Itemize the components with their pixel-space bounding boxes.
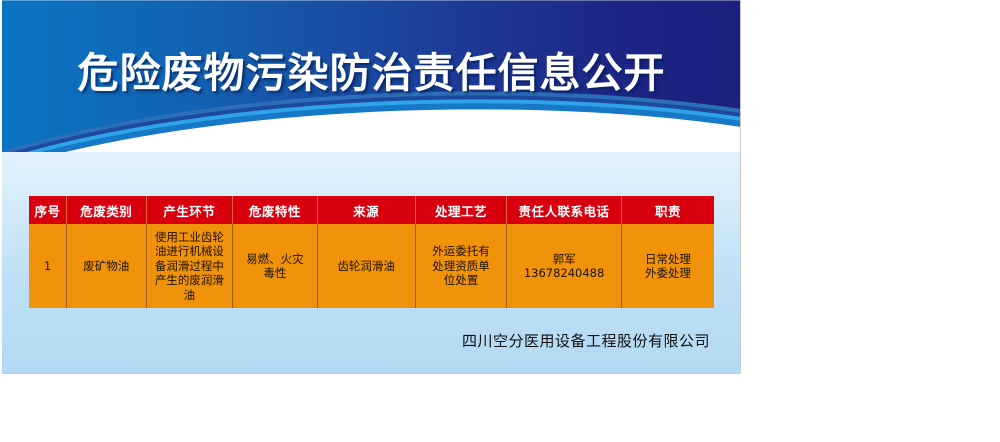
table-row: 1 废矿物油 使用工业齿轮油进行机械设备润滑过程中产生的废润滑油 易燃、火灾毒性… bbox=[29, 224, 714, 308]
column-header-treatment-process: 处理工艺 bbox=[415, 196, 506, 224]
cell-generation-stage-text: 使用工业齿轮油进行机械设备润滑过程中产生的废润滑油 bbox=[154, 230, 224, 303]
page-title: 危险废物污染防治责任信息公开 bbox=[2, 48, 741, 98]
table-header-row: 序号 危废类别 产生环节 危废特性 来源 处理工艺 责任人联系电话 职责 bbox=[29, 196, 714, 224]
column-header-source: 来源 bbox=[317, 196, 415, 224]
screenshot-canvas: 危险废物污染防治责任信息公开 序号 危废类别 产生环节 危废特性 来源 处理工艺… bbox=[0, 0, 1000, 442]
hazardous-waste-information-poster: 危险废物污染防治责任信息公开 序号 危废类别 产生环节 危废特性 来源 处理工艺… bbox=[2, 0, 741, 374]
cell-treatment-process: 外运委托有处理资质单位处置 bbox=[415, 224, 506, 308]
cell-responsible-contact: 郭军 13678240488 bbox=[507, 224, 622, 308]
cell-duty: 日常处理 外委处理 bbox=[621, 224, 714, 308]
company-name: 四川空分医用设备工程股份有限公司 bbox=[462, 331, 710, 351]
cell-hazard-property: 易燃、火灾毒性 bbox=[233, 224, 317, 308]
duty-line-2: 外委处理 bbox=[624, 266, 712, 281]
cell-index: 1 bbox=[29, 224, 66, 308]
column-header-duty: 职责 bbox=[621, 196, 714, 224]
column-header-generation-stage: 产生环节 bbox=[146, 196, 233, 224]
banner-top-highlight bbox=[2, 0, 741, 1]
column-header-index: 序号 bbox=[29, 196, 66, 224]
cell-category: 废矿物油 bbox=[66, 224, 146, 308]
duty-line-1: 日常处理 bbox=[624, 252, 712, 267]
responsible-person-phone: 13678240488 bbox=[509, 266, 619, 281]
column-header-responsible-contact: 责任人联系电话 bbox=[507, 196, 622, 224]
column-header-category: 危废类别 bbox=[66, 196, 146, 224]
column-header-hazard-property: 危废特性 bbox=[233, 196, 317, 224]
cell-treatment-process-text: 外运委托有处理资质单位处置 bbox=[428, 244, 494, 288]
cell-generation-stage: 使用工业齿轮油进行机械设备润滑过程中产生的废润滑油 bbox=[146, 224, 233, 308]
cell-source: 齿轮润滑油 bbox=[317, 224, 415, 308]
responsible-person-name: 郭军 bbox=[509, 252, 619, 267]
hazardous-waste-table: 序号 危废类别 产生环节 危废特性 来源 处理工艺 责任人联系电话 职责 1 废… bbox=[29, 196, 714, 308]
cell-hazard-property-text: 易燃、火灾毒性 bbox=[243, 252, 307, 281]
